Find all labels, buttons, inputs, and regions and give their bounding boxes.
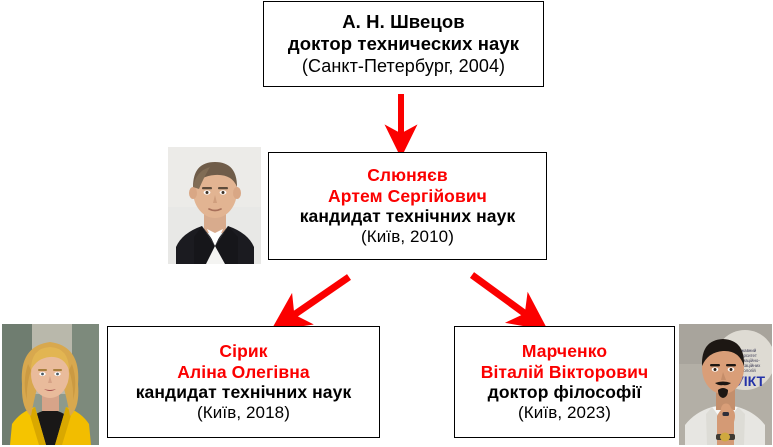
node-degree: доктор технических наук bbox=[288, 33, 519, 56]
node-box-shvetsov: А. Н. Швецов доктор технических наук (Са… bbox=[263, 1, 544, 87]
node-name-line1: А. Н. Швецов bbox=[342, 10, 465, 33]
portrait-photo-siryk bbox=[2, 324, 99, 445]
node-degree: доктор філософії bbox=[488, 382, 642, 403]
portrait-photo-slyunyaev bbox=[168, 147, 261, 264]
node-place-year: (Санкт-Петербург, 2004) bbox=[302, 56, 505, 78]
portrait-man-beard-light-shirt-icon: державний університет інформаційно- кому… bbox=[679, 324, 772, 445]
node-place-year: (Київ, 2010) bbox=[361, 227, 454, 247]
node-name-line2: Аліна Олегівна bbox=[177, 362, 309, 383]
node-degree: кандидат технічних наук bbox=[300, 206, 516, 227]
node-degree: кандидат технічних наук bbox=[136, 382, 352, 403]
portrait-man-dark-suit-icon bbox=[168, 147, 261, 264]
node-place-year: (Київ, 2018) bbox=[197, 403, 290, 423]
node-box-siryk: Сірик Аліна Олегівна кандидат технічних … bbox=[107, 326, 380, 438]
node-name-line2: Віталій Вікторович bbox=[481, 362, 649, 383]
arrow-slyunyaev-to-siryk bbox=[288, 277, 349, 319]
node-name-line1: Сірик bbox=[219, 341, 267, 362]
node-place-year: (Київ, 2023) bbox=[518, 403, 611, 423]
node-name-line2: Артем Сергійович bbox=[328, 186, 487, 207]
node-box-marchenko: Марченко Віталій Вікторович доктор філос… bbox=[454, 326, 675, 438]
node-box-slyunyaev: Слюняєв Артем Сергійович кандидат техніч… bbox=[268, 152, 547, 260]
portrait-photo-marchenko: державний університет інформаційно- кому… bbox=[679, 324, 772, 445]
node-name-line1: Слюняєв bbox=[367, 165, 448, 186]
node-name-line1: Марченко bbox=[522, 341, 607, 362]
portrait-woman-yellow-jacket-icon bbox=[2, 324, 99, 445]
arrow-slyunyaev-to-marchenko bbox=[472, 275, 531, 318]
diagram-canvas: А. Н. Швецов доктор технических наук (Са… bbox=[0, 0, 773, 447]
